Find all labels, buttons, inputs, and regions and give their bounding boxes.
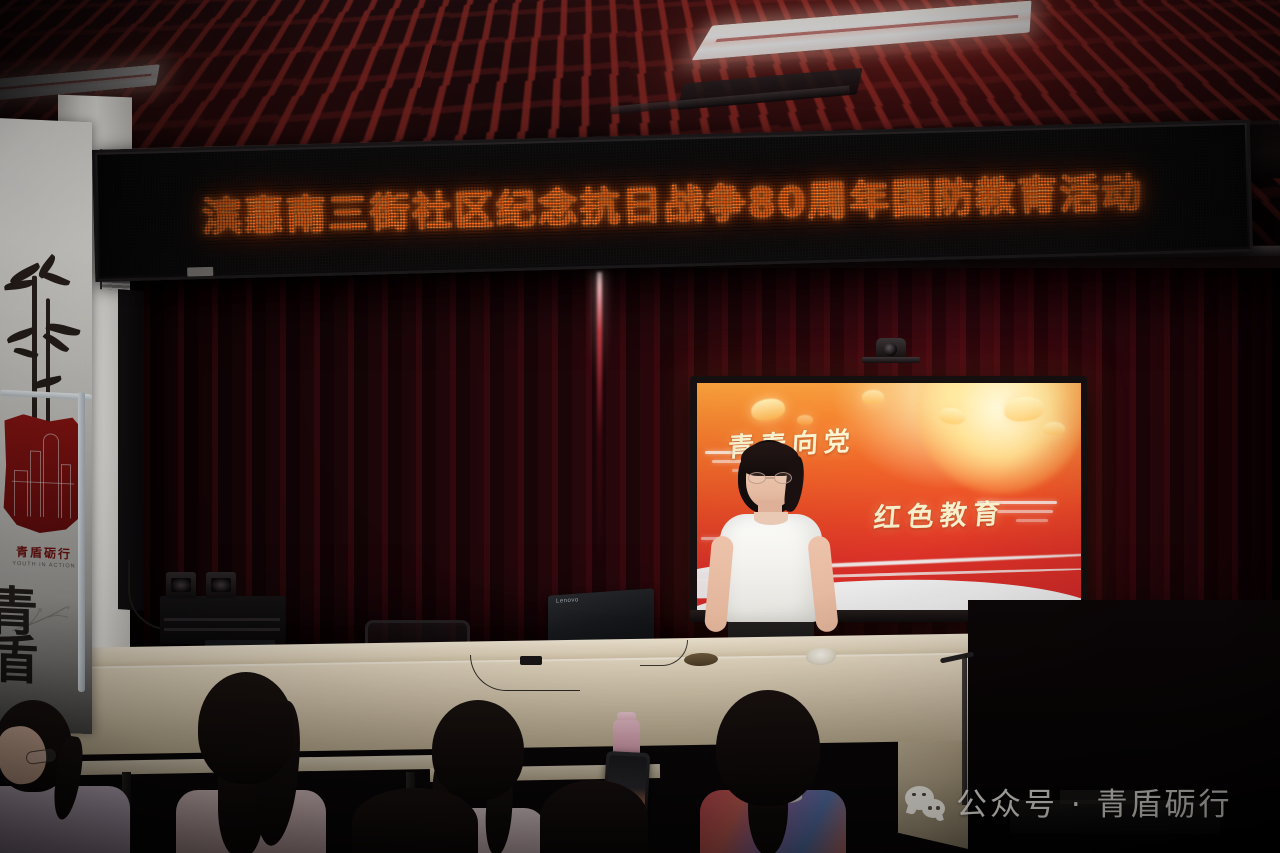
sky-lantern-icon <box>862 390 884 404</box>
cloud-motif-icon <box>1016 519 1048 522</box>
audience-child-head <box>716 690 820 806</box>
rack-slot <box>164 628 280 631</box>
amplifier-rack <box>160 596 285 644</box>
video-camera-icon <box>862 338 920 364</box>
rack-slot <box>164 618 280 621</box>
presenter-glasses-icon <box>748 472 792 484</box>
banner-stand-post <box>78 392 85 692</box>
screen-headline-secondary: 红色教育 <box>872 492 1007 536</box>
speaker-icon <box>166 572 196 598</box>
audience-child-head <box>352 788 478 853</box>
glasses-lens-right <box>774 472 792 484</box>
floor-equipment-secondary <box>1060 790 1150 804</box>
camera-mount-bar <box>862 357 920 363</box>
microphone-stand <box>962 655 967 805</box>
audience-child-head <box>540 780 648 853</box>
photo-scene: 滨惠南三街社区纪念抗日战争80周年国防教育活动 青春向党 红色教育 <box>0 0 1280 853</box>
curtain-light-streak <box>597 272 602 572</box>
led-banner-tag <box>187 267 213 277</box>
sky-lantern-icon <box>749 396 786 423</box>
camera-lens <box>884 343 897 356</box>
sun-motif-icon <box>916 383 1081 494</box>
audience-child-head <box>198 672 294 784</box>
led-banner-screen: 滨惠南三街社区纪念抗日战争80周年国防教育活动 <box>97 125 1248 277</box>
audience-child-head <box>432 700 524 800</box>
presenter-shirt <box>720 514 822 622</box>
power-cord <box>470 655 580 691</box>
glasses-lens-left <box>748 472 766 484</box>
glasses-bridge <box>766 477 774 479</box>
sky-lantern-icon <box>1043 422 1065 435</box>
floor-equipment <box>1010 800 1220 834</box>
speaker-icon <box>206 572 236 598</box>
led-banner-text: 滨惠南三街社区纪念抗日战争80周年国防教育活动 <box>201 161 1144 246</box>
